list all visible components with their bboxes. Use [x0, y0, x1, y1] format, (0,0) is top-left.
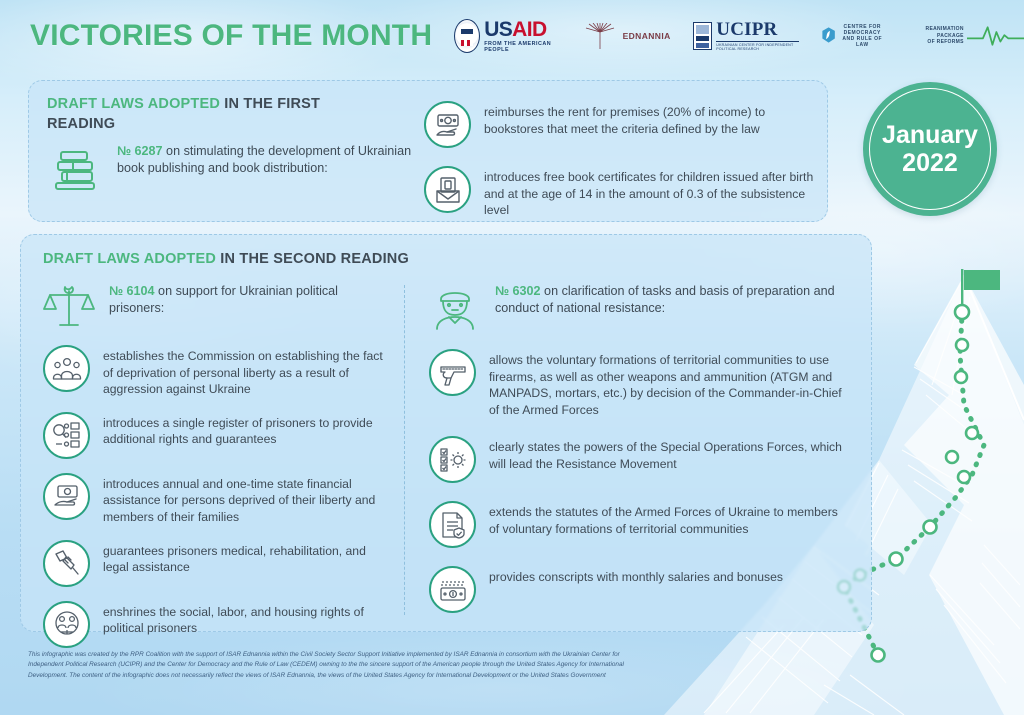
money-hand-icon [433, 110, 463, 140]
bullet-firearms-text: allows the voluntary formations of terri… [489, 349, 849, 418]
book-certificate-envelope-icon [433, 175, 463, 205]
second-reading-column-left: № 6104 on support for Ukrainian politica… [43, 283, 393, 662]
page-title: VICTORIES OF THE MONTH [30, 19, 432, 53]
bullet-conscript-salaries-text: provides conscripts with monthly salarie… [489, 566, 783, 586]
usaid-tagline: FROM THE AMERICAN PEOPLE [484, 42, 554, 53]
bullet-commission: establishes the Commission on establishi… [43, 345, 393, 398]
first-reading-heading-highlight: DRAFT LAWS ADOPTED [47, 96, 220, 112]
firearm-pistol-icon [438, 358, 468, 388]
ucipr-wordmark: UCIPR [716, 20, 798, 39]
ednannia-wordmark: EDNANNIA [623, 32, 671, 41]
document-shield-icon-badge [429, 501, 476, 548]
book-certificate-envelope-icon-badge [424, 166, 471, 213]
cedem-emblem-icon [821, 23, 836, 47]
ucipr-logo: UCIPR UKRAINIAN CENTER FOR INDEPENDENT P… [693, 20, 799, 51]
footer-disclaimer: This infographic was created by the RPR … [28, 650, 628, 681]
document-shield-icon [438, 510, 468, 540]
rpr-line-2: OF REFORMS [911, 39, 964, 46]
section-first-reading: DRAFT LAWS ADOPTED IN THE FIRST READING … [28, 80, 828, 222]
banknote-stack-icon [438, 575, 468, 605]
checklist-gear-icon [438, 445, 468, 475]
register-list-icon-badge [43, 412, 90, 459]
rpr-logo: REANIMATION PACKAGE OF REFORMS [911, 21, 1024, 51]
second-reading-column-right: № 6302 on clarification of tasks and bas… [429, 283, 849, 627]
bullet-conscript-salaries: provides conscripts with monthly salarie… [429, 566, 849, 613]
money-hand-icon-badge-2 [43, 473, 90, 520]
bullet-single-register-text: introduces a single register of prisoner… [103, 412, 393, 448]
ucipr-emblem-icon [693, 22, 713, 50]
bullet-book-certificates-text: introduces free book certificates for ch… [484, 166, 814, 219]
law-6104-row: № 6104 on support for Ukrainian politica… [43, 283, 393, 331]
law-6302-number: № 6302 [495, 284, 541, 298]
usaid-word-aid: AID [512, 18, 546, 41]
usaid-logo: USAID FROM THE AMERICAN PEOPLE [454, 19, 554, 53]
law-6302-row: № 6302 on clarification of tasks and bas… [429, 283, 849, 333]
bullet-statutes-text: extends the statutes of the Armed Forces… [489, 501, 849, 537]
bullet-financial-assistance-text: introduces annual and one-time state fin… [103, 473, 393, 526]
second-reading-heading-rest: IN THE SECOND READING [216, 251, 409, 267]
bullet-rent-reimbursement-text: reimburses the rent for premises (20% of… [484, 101, 814, 137]
first-reading-bullets: reimburses the rent for premises (20% of… [424, 101, 814, 233]
cedem-line-2: AND RULE OF LAW [836, 36, 889, 49]
law-6287-row: № 6287 on stimulating the development of… [51, 143, 416, 195]
social-balance-icon [52, 609, 82, 639]
bullet-social-rights-text: enshrines the social, labor, and housing… [103, 601, 393, 637]
dandelion-icon [577, 23, 623, 49]
ednannia-logo: EDNANNIA [577, 23, 671, 49]
partner-logos: USAID FROM THE AMERICAN PEOPLE EDNANNIA [454, 19, 1024, 53]
first-reading-heading: DRAFT LAWS ADOPTED IN THE FIRST READING [47, 95, 377, 134]
bullet-financial-assistance: introduces annual and one-time state fin… [43, 473, 393, 526]
books-icon [51, 143, 103, 195]
bullet-book-certificates: introduces free book certificates for ch… [424, 166, 814, 219]
column-divider [404, 285, 405, 615]
bullet-single-register: introduces a single register of prisoner… [43, 412, 393, 459]
page-header: VICTORIES OF THE MONTH USAID FROM THE AM… [0, 0, 1024, 72]
second-reading-heading: DRAFT LAWS ADOPTED IN THE SECOND READING [43, 251, 409, 267]
usaid-seal-icon [454, 19, 480, 53]
month-badge-year: 2022 [882, 149, 978, 177]
bullet-statutes: extends the statutes of the Armed Forces… [429, 501, 849, 548]
law-6104-number: № 6104 [109, 284, 155, 298]
bullet-special-operations: clearly states the powers of the Special… [429, 436, 849, 483]
soldier-icon [429, 283, 481, 333]
bullet-medical-assistance-text: guarantees prisoners medical, rehabilita… [103, 540, 393, 576]
cedem-line-1: CENTRE FOR DEMOCRACY [836, 24, 889, 37]
law-6287-number: № 6287 [117, 144, 163, 158]
banknote-stack-icon-badge [429, 566, 476, 613]
cedem-logo: CENTRE FOR DEMOCRACY AND RULE OF LAW [821, 23, 889, 50]
social-balance-icon-badge [43, 601, 90, 648]
bullet-medical-assistance: guarantees prisoners medical, rehabilita… [43, 540, 393, 587]
second-reading-heading-highlight: DRAFT LAWS ADOPTED [43, 251, 216, 267]
scales-justice-icon [43, 283, 95, 331]
bullet-commission-text: establishes the Commission on establishi… [103, 345, 393, 398]
rpr-line-1: REANIMATION PACKAGE [911, 26, 964, 39]
checklist-gear-icon-badge [429, 436, 476, 483]
bullet-rent-reimbursement: reimburses the rent for premises (20% of… [424, 101, 814, 148]
ucipr-tagline: UKRAINIAN CENTER FOR INDEPENDENT POLITIC… [716, 41, 798, 51]
usaid-word-us: US [484, 18, 512, 41]
bullet-special-operations-text: clearly states the powers of the Special… [489, 436, 849, 472]
bullet-firearms: allows the voluntary formations of terri… [429, 349, 849, 418]
firearm-pistol-icon-badge [429, 349, 476, 396]
month-badge-month: January [882, 121, 978, 149]
section-second-reading: DRAFT LAWS ADOPTED IN THE SECOND READING… [20, 234, 872, 632]
money-hand-icon-badge [424, 101, 471, 148]
money-hand-icon [52, 481, 82, 511]
register-list-icon [52, 420, 82, 450]
people-group-icon [52, 354, 82, 384]
people-group-icon-badge [43, 345, 90, 392]
medical-syringe-icon-badge [43, 540, 90, 587]
medical-syringe-icon [52, 548, 82, 578]
law-6302-text: on clarification of tasks and basis of p… [495, 284, 835, 315]
bullet-social-rights: enshrines the social, labor, and housing… [43, 601, 393, 648]
heartbeat-icon [967, 21, 1024, 51]
month-badge: January 2022 [863, 82, 997, 216]
